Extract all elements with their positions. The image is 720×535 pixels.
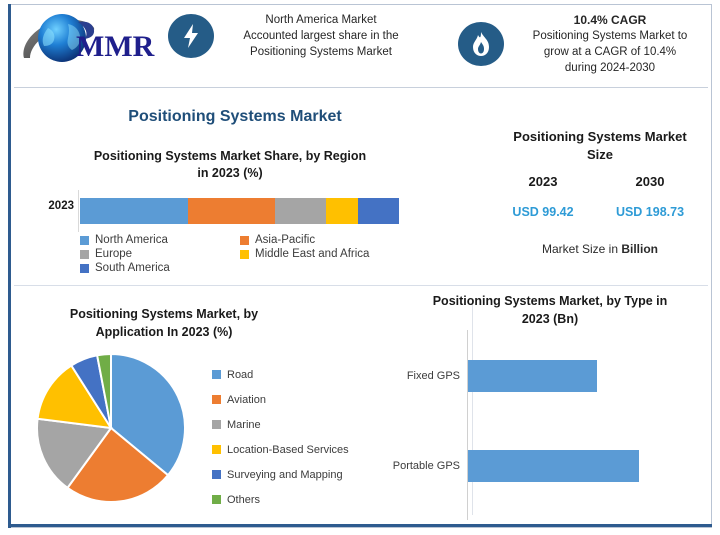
header-highlight-text: North America Market Accounted largest s… xyxy=(226,12,416,60)
market-size-title: Positioning Systems Market Size xyxy=(490,128,710,164)
region-chart-title: Positioning Systems Market Share, by Reg… xyxy=(30,148,430,182)
application-legend-label: Location-Based Services xyxy=(227,444,349,456)
region-legend-item: South America xyxy=(80,262,240,274)
application-chart-title: Positioning Systems Market, by Applicati… xyxy=(24,305,304,341)
legend-swatch-icon xyxy=(212,470,221,479)
region-legend-label: Europe xyxy=(95,248,132,260)
left-accent-rail xyxy=(8,4,11,528)
header-highlight-cagr: 10.4% CAGR Positioning Systems Market to… xyxy=(458,12,706,76)
market-size-value-2030: USD 198.73 xyxy=(600,205,700,219)
type-category-portable-gps: Portable GPS xyxy=(375,460,460,472)
type-title-line-2: 2023 (Bn) xyxy=(390,310,710,328)
market-size-footnote-prefix: Market Size in xyxy=(542,242,621,256)
type-bar-fixed-gps xyxy=(468,360,597,392)
region-legend-item: North America xyxy=(80,234,240,246)
region-segment-south-america xyxy=(358,198,399,224)
globe-swoosh-icon: MMR xyxy=(18,8,158,74)
region-legend-label: North America xyxy=(95,234,168,246)
cagr-headline: 10.4% CAGR xyxy=(514,12,706,28)
region-legend-item: Middle East and Africa xyxy=(240,248,420,260)
legend-swatch-icon xyxy=(240,236,249,245)
header-2-line-1: Positioning Systems Market to xyxy=(514,28,706,44)
type-title-line-1: Positioning Systems Market, by Type in xyxy=(390,292,710,310)
application-legend-item: Others xyxy=(212,487,349,512)
logo-wordmark: MMR xyxy=(76,30,155,63)
page-title: Positioning Systems Market xyxy=(0,108,470,126)
region-chart-plot xyxy=(78,190,398,232)
application-legend-label: Others xyxy=(227,494,260,506)
header-cagr-text: 10.4% CAGR Positioning Systems Market to… xyxy=(514,12,706,76)
market-size-footnote: Market Size in Billion xyxy=(490,242,710,256)
application-legend-label: Aviation xyxy=(227,394,266,406)
application-legend-item: Aviation xyxy=(212,387,349,412)
header-divider xyxy=(14,87,708,88)
legend-swatch-icon xyxy=(212,395,221,404)
legend-swatch-icon xyxy=(80,250,89,259)
region-segment-asia-pacific xyxy=(188,198,274,224)
application-title-line-2: Application In 2023 (%) xyxy=(24,323,304,341)
region-stacked-bar xyxy=(80,198,399,224)
region-legend-label: Asia-Pacific xyxy=(255,234,315,246)
region-segment-north-america xyxy=(80,198,188,224)
middle-divider xyxy=(14,285,708,286)
legend-swatch-icon xyxy=(80,236,89,245)
lightning-bolt-icon xyxy=(168,14,214,58)
header-2-line-2: grow at a CAGR of 10.4% xyxy=(514,44,706,60)
legend-swatch-icon xyxy=(212,495,221,504)
header-highlight-north-america: North America Market Accounted largest s… xyxy=(168,12,416,60)
application-legend-label: Marine xyxy=(227,419,261,431)
market-size-year-2023: 2023 xyxy=(498,174,588,189)
legend-swatch-icon xyxy=(212,420,221,429)
region-legend-label: Middle East and Africa xyxy=(255,248,369,260)
type-bar-portable-gps xyxy=(468,450,639,482)
application-legend-label: Road xyxy=(227,369,253,381)
application-legend-label: Surveying and Mapping xyxy=(227,469,343,481)
flame-icon xyxy=(458,22,504,66)
region-segment-europe xyxy=(275,198,326,224)
legend-swatch-icon xyxy=(240,250,249,259)
application-pie-chart xyxy=(35,352,187,504)
market-size-year-2030: 2030 xyxy=(605,174,695,189)
header-1-line-2: Accounted largest share in the xyxy=(226,28,416,44)
region-legend-item: Asia-Pacific xyxy=(240,234,420,246)
application-legend-item: Location-Based Services xyxy=(212,437,349,462)
application-legend-item: Surveying and Mapping xyxy=(212,462,349,487)
application-title-line-1: Positioning Systems Market, by xyxy=(24,305,304,323)
header-1-line-1: North America Market xyxy=(226,12,416,28)
legend-swatch-icon xyxy=(80,264,89,273)
bottom-accent-rail xyxy=(8,524,712,527)
market-size-value-2023: USD 99.42 xyxy=(493,205,593,219)
region-segment-middle-east-and-africa xyxy=(326,198,358,224)
region-title-line-2: in 2023 (%) xyxy=(30,165,430,182)
region-title-line-1: Positioning Systems Market Share, by Reg… xyxy=(30,148,430,165)
region-chart-legend: North AmericaAsia-PacificEuropeMiddle Ea… xyxy=(80,234,420,274)
type-chart-plot xyxy=(467,330,707,520)
infographic-page: MMR North America Market Accounted large… xyxy=(0,0,720,535)
type-chart-title: Positioning Systems Market, by Type in 2… xyxy=(390,292,710,328)
header-2-line-3: during 2024-2030 xyxy=(514,60,706,76)
region-legend-item: Europe xyxy=(80,248,240,260)
type-category-fixed-gps: Fixed GPS xyxy=(375,370,460,382)
legend-swatch-icon xyxy=(212,370,221,379)
application-chart-legend: RoadAviationMarineLocation-Based Service… xyxy=(212,362,349,512)
market-size-title-line-2: Size xyxy=(490,146,710,164)
market-size-title-line-1: Positioning Systems Market xyxy=(490,128,710,146)
pie-slices xyxy=(35,352,187,504)
application-legend-item: Marine xyxy=(212,412,349,437)
legend-swatch-icon xyxy=(212,445,221,454)
market-size-footnote-unit: Billion xyxy=(621,242,658,256)
region-category-label: 2023 xyxy=(30,200,74,212)
type-chart-axis xyxy=(467,330,468,520)
mmr-logo: MMR xyxy=(18,8,158,74)
header-1-line-3: Positioning Systems Market xyxy=(226,44,416,60)
region-legend-label: South America xyxy=(95,262,170,274)
application-legend-item: Road xyxy=(212,362,349,387)
